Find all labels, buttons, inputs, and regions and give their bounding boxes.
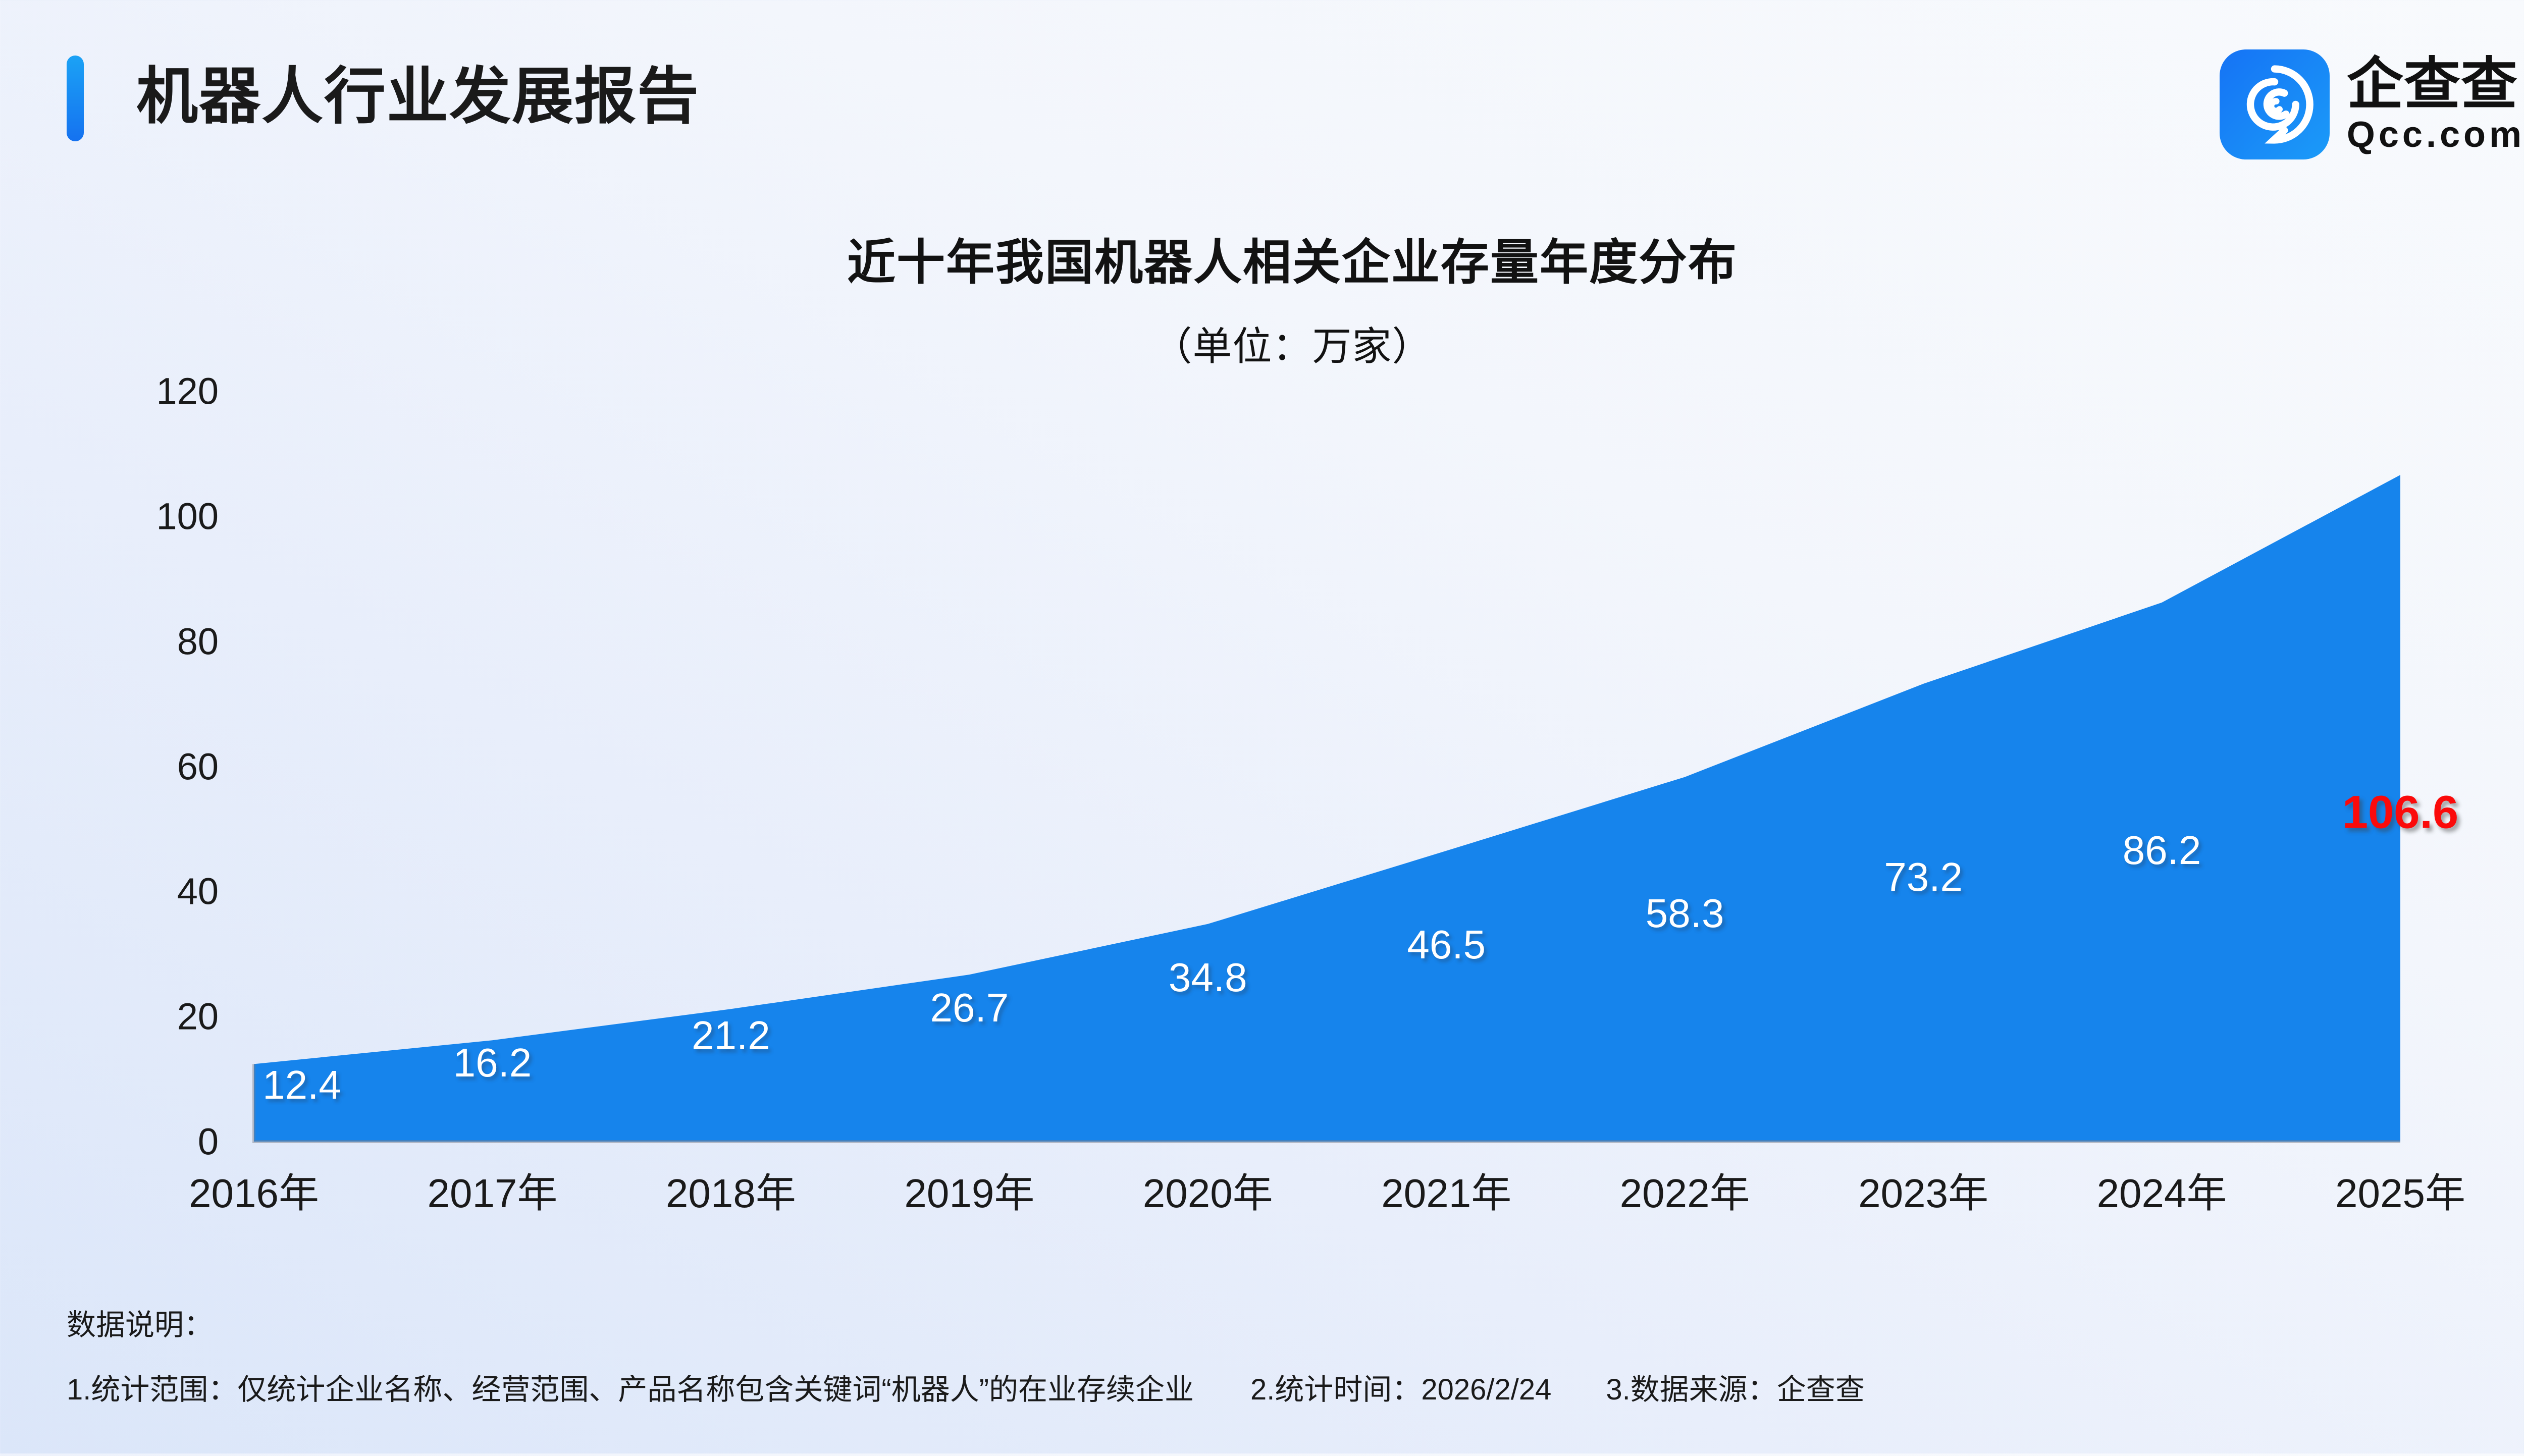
axis-lines xyxy=(254,1064,2400,1142)
x-axis-tick-label: 2019年 xyxy=(904,1161,1034,1219)
area-chart-canvas xyxy=(0,0,2524,1453)
y-axis-tick-label: 80 xyxy=(52,620,219,663)
y-axis-tick-label: 60 xyxy=(52,745,219,788)
data-label: 26.7 xyxy=(930,985,1009,1031)
x-axis-tick-label: 2017年 xyxy=(427,1161,557,1219)
area-series xyxy=(254,475,2400,1142)
footnote-row: 1.统计范围：仅统计企业名称、经营范围、产品名称包含关键词“机器人”的在业存续企… xyxy=(67,1366,2524,1408)
x-axis-tick-label: 2023年 xyxy=(1858,1161,1988,1219)
footnote-source: 3.数据来源：企查查 xyxy=(1606,1366,1864,1408)
x-axis-tick-label: 2022年 xyxy=(1620,1161,1750,1219)
footnote-heading: 数据说明： xyxy=(67,1301,213,1343)
qcc-spiral-logo-icon xyxy=(2220,49,2330,159)
y-axis-tick-label: 120 xyxy=(52,370,219,413)
data-label: 12.4 xyxy=(262,1062,341,1108)
data-label-highlight: 106.6 xyxy=(2342,786,2458,839)
data-label: 73.2 xyxy=(1884,854,1963,900)
data-label: 86.2 xyxy=(2123,827,2201,874)
title-accent-bar xyxy=(67,56,84,141)
chart-title: 近十年我国机器人相关企业存量年度分布 xyxy=(0,223,2524,293)
footnote-scope: 1.统计范围：仅统计企业名称、经营范围、产品名称包含关键词“机器人”的在业存续企… xyxy=(67,1366,1194,1408)
y-axis-tick-label: 100 xyxy=(52,495,219,537)
y-axis-tick-label: 20 xyxy=(52,995,219,1038)
x-axis-tick-label: 2018年 xyxy=(666,1161,796,1219)
x-axis-tick-label: 2024年 xyxy=(2097,1161,2227,1219)
page-header: 机器人行业发展报告 企查查 Qcc.com xyxy=(0,0,2524,197)
area-chart: 020406080100120 2016年2017年2018年2019年2020… xyxy=(0,0,2524,1453)
x-axis-tick-label: 2025年 xyxy=(2335,1161,2465,1219)
data-label: 58.3 xyxy=(1646,890,1724,937)
brand-logo: 企查查 Qcc.com xyxy=(2220,49,2524,159)
data-label: 21.2 xyxy=(692,1012,770,1059)
y-axis-tick-label: 40 xyxy=(52,870,219,913)
chart-subtitle: （单位：万家） xyxy=(0,315,2524,371)
brand-domain: Qcc.com xyxy=(2347,116,2524,154)
x-axis-tick-label: 2021年 xyxy=(1381,1161,1511,1219)
page-title: 机器人行业发展报告 xyxy=(136,50,700,143)
x-axis-tick-label: 2020年 xyxy=(1143,1161,1273,1219)
data-label: 34.8 xyxy=(1169,954,1247,1001)
data-label: 16.2 xyxy=(453,1040,532,1086)
x-axis-tick-label: 2016年 xyxy=(189,1161,319,1219)
y-axis-tick-label: 0 xyxy=(52,1120,219,1163)
brand-text: 企查查 Qcc.com xyxy=(2347,55,2524,154)
data-label: 46.5 xyxy=(1407,922,1486,968)
footnote-time: 2.统计时间：2026/2/24 xyxy=(1250,1366,1551,1408)
brand-name: 企查查 xyxy=(2347,55,2524,114)
